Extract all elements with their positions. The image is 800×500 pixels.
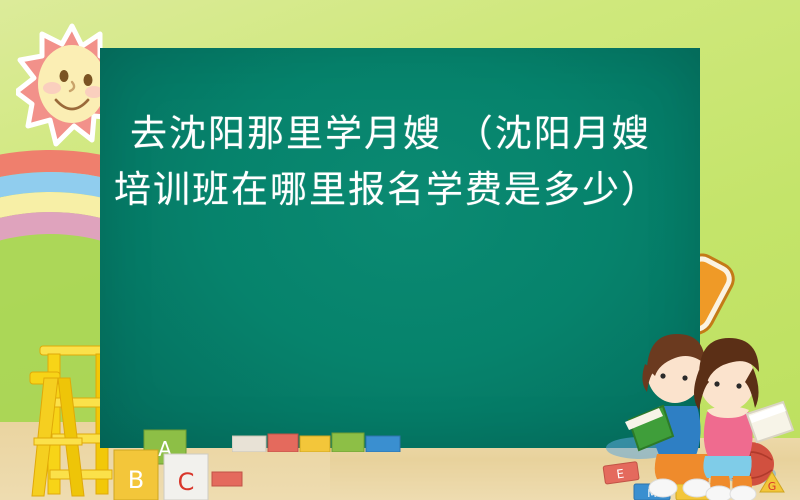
- banner-canvas: 去沈阳那里学月嫂 （沈阳月嫂培训班在哪里报名学费是多少） A B C: [0, 0, 800, 500]
- block-strip: [232, 430, 402, 452]
- abc-blocks-icon: A B C: [108, 428, 248, 500]
- svg-text:B: B: [128, 466, 144, 494]
- chalkboard: 去沈阳那里学月嫂 （沈阳月嫂培训班在哪里报名学费是多少）: [100, 48, 700, 448]
- chalkboard-text: 去沈阳那里学月嫂 （沈阳月嫂培训班在哪里报名学费是多少）: [114, 106, 686, 218]
- children-reading-icon: [615, 310, 800, 500]
- svg-text:C: C: [178, 468, 195, 496]
